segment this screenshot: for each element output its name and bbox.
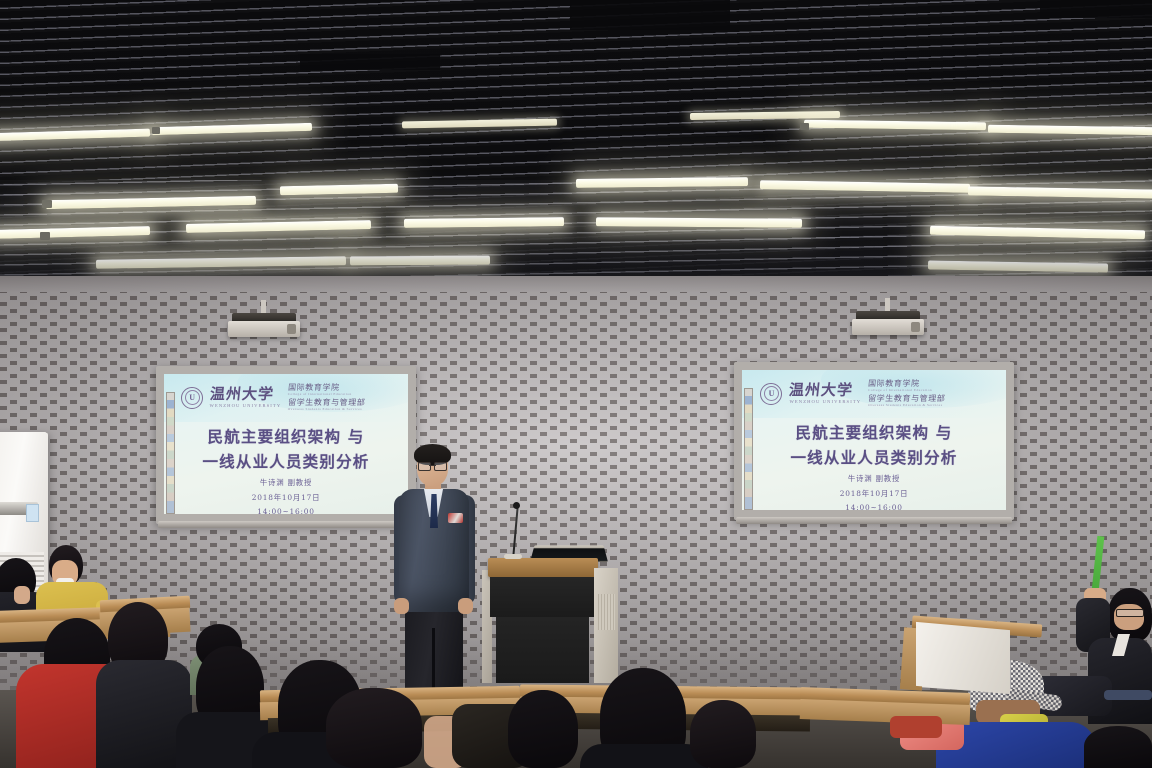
department-block: 国际教育学院 College of International Educatio…: [288, 384, 365, 411]
audience-hand: [14, 586, 30, 604]
slide-header-right: U 温州大学 WENZHOU UNIVERSITY 国际教育学院 College…: [760, 377, 992, 411]
university-name-block: 温州大学 WENZHOU UNIVERSITY: [789, 383, 861, 405]
slide-title-line1: 民航主要组织架构 与: [174, 425, 399, 447]
slide-title-line2: 一线从业人员类别分析: [174, 450, 399, 472]
dept-name-en: Overseas Students Education & Services: [288, 408, 365, 411]
audience-face: [1114, 604, 1144, 630]
university-name-block: 温州大学 WENZHOU UNIVERSITY: [210, 387, 282, 409]
slide-title-line2: 一线从业人员类别分析: [753, 446, 996, 468]
lens-left: [418, 462, 431, 471]
screen-surface-left: U 温州大学 WENZHOU UNIVERSITY 国际教育学院 College…: [164, 374, 408, 514]
dept-name-en: Overseas Students Education & Services: [868, 404, 945, 407]
lectern-front-panel: [490, 577, 596, 617]
whiteboard-tray: [736, 517, 1012, 524]
dept-name-cn: 留学生教育与管理部: [868, 395, 946, 403]
chair-back: [1104, 690, 1152, 700]
ceiling: [0, 0, 1152, 292]
slide-subtitle-left: 牛诗渊 副教授 2018年10月17日 14:00~16:00: [174, 473, 399, 514]
projector-mount-pole: [261, 300, 266, 314]
university-name-cn: 温州大学: [789, 383, 862, 398]
lectern[interactable]: [488, 558, 613, 683]
screen-surface-right: U 温州大学 WENZHOU UNIVERSITY 国际教育学院 College…: [742, 370, 1006, 510]
audience-head: [508, 690, 578, 768]
college-name-cn: 国际教育学院: [287, 384, 365, 392]
light-fixture-cap: [42, 200, 52, 208]
seal-letter: U: [189, 394, 195, 402]
ceiling-projector-left: [228, 312, 300, 340]
microphone-capsule: [513, 502, 520, 509]
presenter-jacket-emblem: [448, 513, 463, 523]
wenzhou-university-seal-icon: U: [181, 387, 203, 409]
ceiling-dark-panel: [1040, 0, 1152, 18]
ceiling-light-tube: [576, 177, 748, 188]
slide-time: 14:00~16:00: [753, 503, 996, 510]
slide-title-line1: 民航主要组织架构 与: [753, 421, 996, 443]
lectern-speaker-mesh: [598, 594, 615, 630]
ceiling-projector-right: [852, 310, 924, 338]
lecture-hall-photo: U 温州大学 WENZHOU UNIVERSITY 国际教育学院 College…: [0, 0, 1152, 768]
department-block: 国际教育学院 College of International Educatio…: [868, 380, 945, 407]
presenter-leg-split: [432, 628, 435, 690]
light-fixture-cap: [152, 127, 160, 134]
ceiling-light-tube: [404, 217, 564, 228]
lens-right: [434, 462, 447, 471]
audience-head: [326, 688, 422, 768]
slide-subtitle-right: 牛诗渊 副教授 2018年10月17日 14:00~16:00: [753, 469, 996, 510]
audience-head: [1084, 726, 1152, 768]
college-name-en: College of International Education: [288, 393, 365, 396]
lectern-worktop: [488, 558, 598, 577]
presenter-left-hand: [394, 598, 409, 614]
college-row: 国际教育学院 College of International Educatio…: [868, 380, 945, 392]
audience-head: [690, 700, 756, 768]
projector-mount-pole: [885, 298, 890, 312]
slide-date: 2018年10月17日: [753, 488, 996, 499]
projector-lens: [911, 322, 920, 332]
slide-presenter: 牛诗渊 副教授: [174, 477, 399, 488]
presenter-right-hand: [458, 598, 473, 614]
college-name-en: College of International Education: [868, 389, 945, 392]
whiteboard-marker-strip[interactable]: [744, 388, 753, 510]
slide-date: 2018年10月17日: [174, 492, 399, 503]
dept-name-cn: 留学生教育与管理部: [287, 399, 365, 407]
ceiling-light-tube: [596, 217, 802, 227]
slide-header-left: U 温州大学 WENZHOU UNIVERSITY 国际教育学院 College…: [181, 381, 396, 415]
ceiling-dark-panel: [570, 0, 730, 30]
projection-screen-left[interactable]: U 温州大学 WENZHOU UNIVERSITY 国际教育学院 College…: [156, 366, 416, 524]
slide-title-left: 民航主要组织架构 与 一线从业人员类别分析: [174, 422, 399, 475]
university-name-cn: 温州大学: [209, 387, 282, 402]
slide-time: 14:00~16:00: [174, 507, 399, 514]
university-name-en: WENZHOU UNIVERSITY: [789, 400, 861, 405]
projector-lens: [287, 324, 296, 334]
slide-title-right: 民航主要组织架构 与 一线从业人员类别分析: [753, 418, 996, 471]
wenzhou-university-seal-icon: U: [760, 383, 782, 405]
ac-badge: [26, 504, 39, 522]
desk-white-panel: [916, 622, 1010, 694]
eyeglasses-icon: [418, 462, 447, 469]
microphone-base: [504, 554, 522, 559]
whiteboard-marker-strip[interactable]: [166, 392, 175, 514]
slide-right: U 温州大学 WENZHOU UNIVERSITY 国际教育学院 College…: [742, 370, 1006, 510]
dept-row: 留学生教育与管理部 Overseas Students Education & …: [288, 399, 365, 411]
slide-left: U 温州大学 WENZHOU UNIVERSITY 国际教育学院 College…: [164, 374, 408, 514]
ceiling-dark-panel: [300, 54, 440, 70]
light-fixture-cap: [800, 123, 809, 130]
seal-letter: U: [769, 390, 775, 398]
eyeglasses-icon: [1116, 609, 1144, 617]
projection-screen-right[interactable]: U 温州大学 WENZHOU UNIVERSITY 国际教育学院 College…: [734, 362, 1014, 520]
university-name-en: WENZHOU UNIVERSITY: [210, 404, 282, 409]
lectern-base: [496, 617, 589, 683]
audience-body: [580, 744, 708, 768]
whiteboard-tray: [158, 521, 414, 528]
slide-presenter: 牛诗渊 副教授: [753, 473, 996, 484]
glasses-bridge: [429, 465, 436, 466]
dept-row: 留学生教育与管理部 Overseas Students Education & …: [868, 395, 945, 407]
college-name-cn: 国际教育学院: [868, 380, 946, 388]
college-row: 国际教育学院 College of International Educatio…: [288, 384, 365, 396]
object-on-desk: [890, 716, 942, 738]
